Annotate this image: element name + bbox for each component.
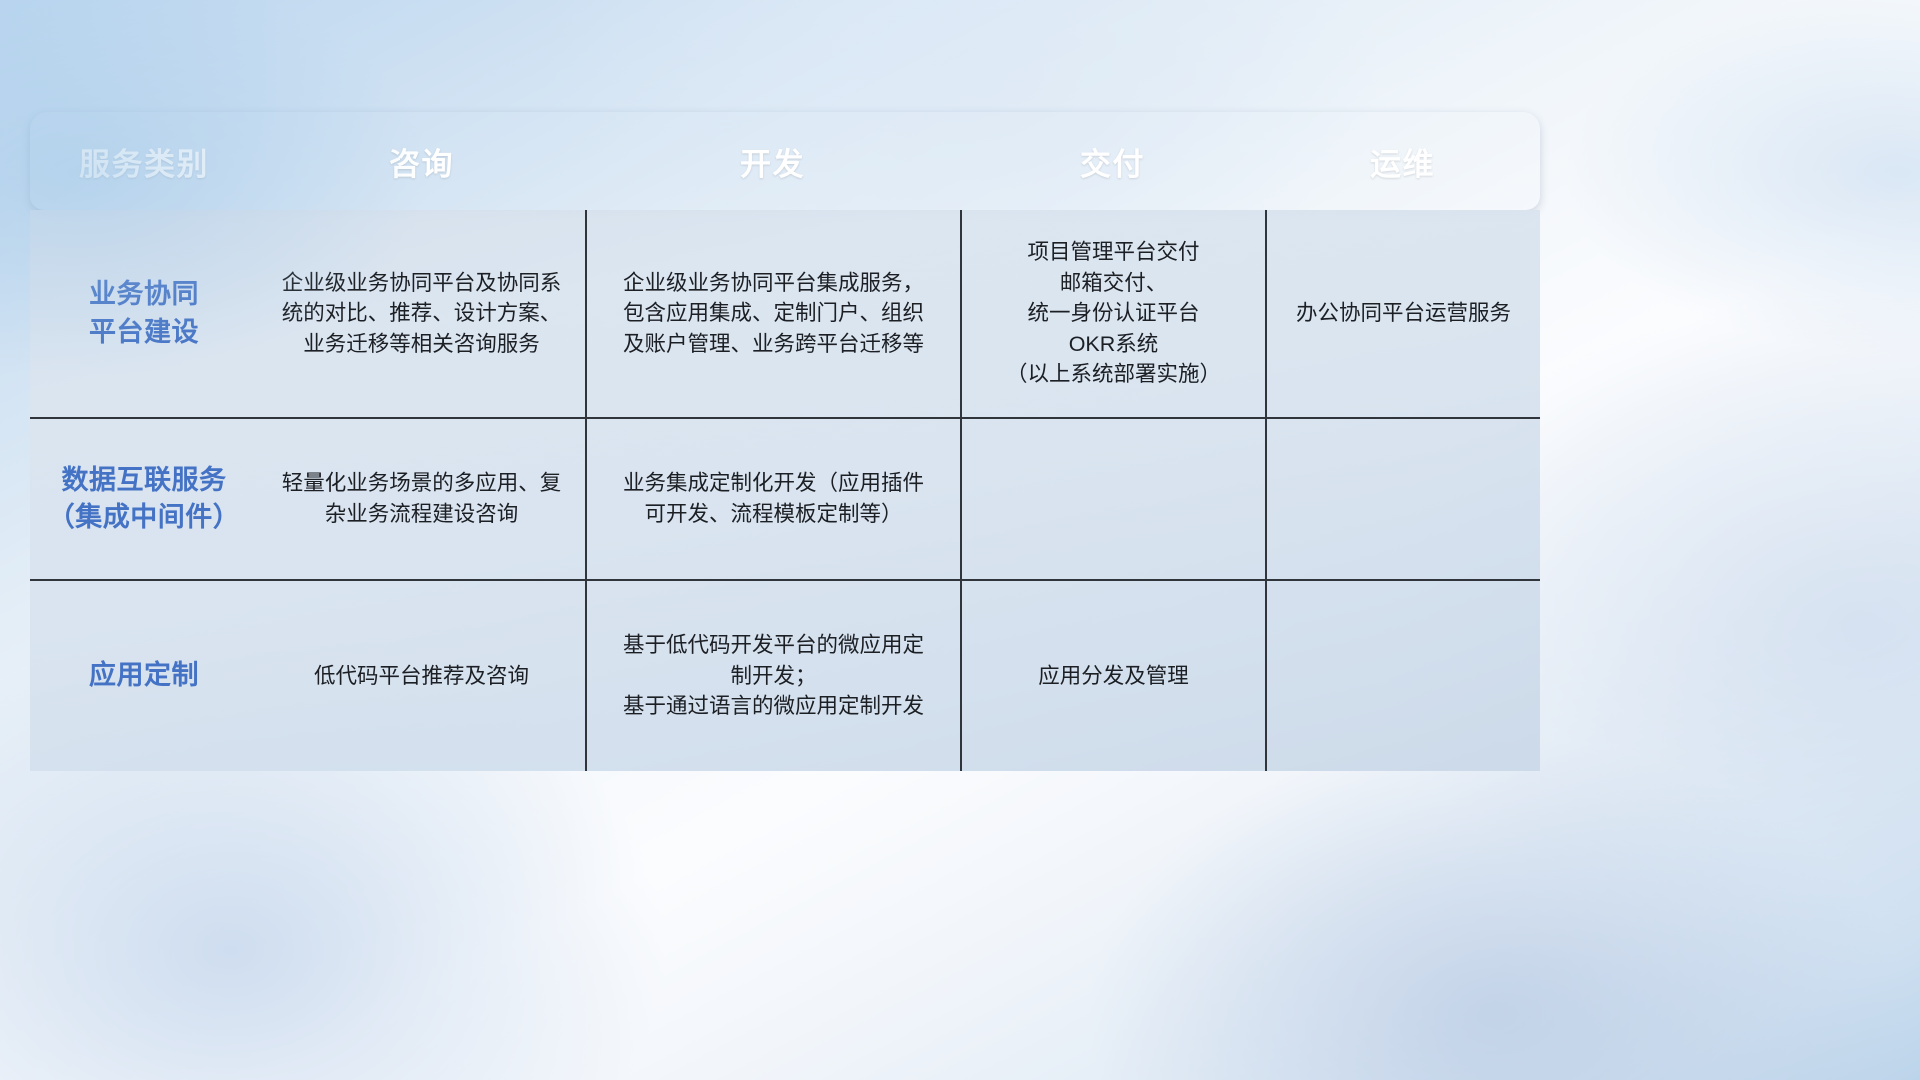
cell-consulting: 企业级业务协同平台及协同系 统的对比、推荐、设计方案、 业务迁移等相关咨询服务 xyxy=(258,210,585,417)
cell-development: 基于低代码开发平台的微应用定 制开发； 基于通过语言的微应用定制开发 xyxy=(585,581,960,771)
column-header-service-category: 服务类别 xyxy=(30,112,258,210)
column-header-development: 开发 xyxy=(585,112,960,210)
cell-operations xyxy=(1265,419,1540,579)
cell-delivery xyxy=(960,419,1265,579)
cell-development: 企业级业务协同平台集成服务， 包含应用集成、定制门户、组织 及账户管理、业务跨平… xyxy=(585,210,960,417)
cell-consulting: 轻量化业务场景的多应用、复 杂业务流程建设咨询 xyxy=(258,419,585,579)
row-category-label: 数据互联服务 （集成中间件） xyxy=(30,419,258,579)
row-category-label: 应用定制 xyxy=(30,581,258,771)
table-header-row: 服务类别 咨询 开发 交付 运维 xyxy=(30,112,1540,210)
table-row: 业务协同 平台建设 企业级业务协同平台及协同系 统的对比、推荐、设计方案、 业务… xyxy=(30,210,1540,417)
service-category-table: 服务类别 咨询 开发 交付 运维 业务协同 平台建设 企业级业务协同平台及协同系… xyxy=(30,112,1540,771)
row-category-label: 业务协同 平台建设 xyxy=(30,210,258,417)
page-canvas: 服务类别 咨询 开发 交付 运维 业务协同 平台建设 企业级业务协同平台及协同系… xyxy=(0,0,1920,1080)
cell-development: 业务集成定制化开发（应用插件 可开发、流程模板定制等） xyxy=(585,419,960,579)
column-header-delivery: 交付 xyxy=(960,112,1265,210)
column-header-operations: 运维 xyxy=(1265,112,1540,210)
cell-operations xyxy=(1265,581,1540,771)
table-body: 业务协同 平台建设 企业级业务协同平台及协同系 统的对比、推荐、设计方案、 业务… xyxy=(30,210,1540,771)
table-row: 应用定制 低代码平台推荐及咨询 基于低代码开发平台的微应用定 制开发； 基于通过… xyxy=(30,579,1540,771)
cell-consulting: 低代码平台推荐及咨询 xyxy=(258,581,585,771)
table-row: 数据互联服务 （集成中间件） 轻量化业务场景的多应用、复 杂业务流程建设咨询 业… xyxy=(30,417,1540,579)
cell-delivery: 项目管理平台交付 邮箱交付、 统一身份认证平台 OKR系统 （以上系统部署实施） xyxy=(960,210,1265,417)
cell-delivery: 应用分发及管理 xyxy=(960,581,1265,771)
column-header-consulting: 咨询 xyxy=(258,112,585,210)
cell-operations: 办公协同平台运营服务 xyxy=(1265,210,1540,417)
